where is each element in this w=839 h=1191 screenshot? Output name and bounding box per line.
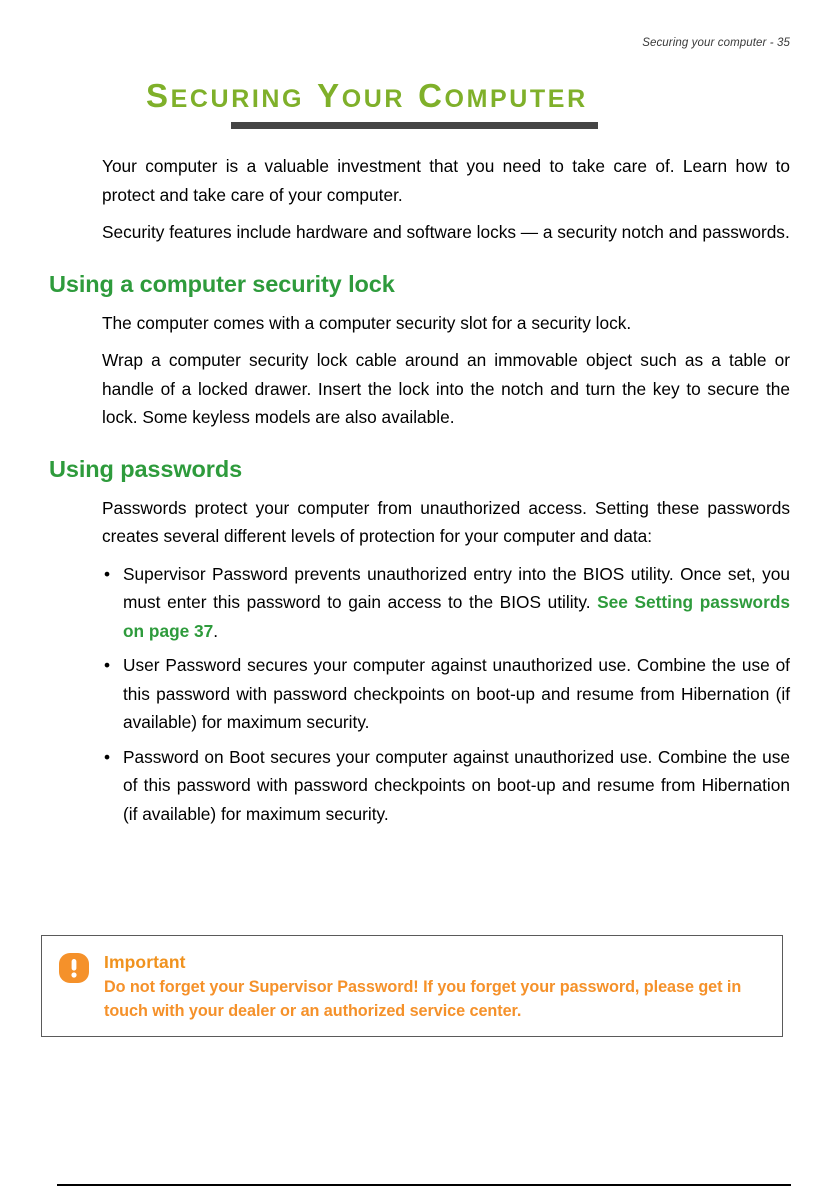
password-types-list: •Supervisor Password prevents unauthoriz… <box>0 560 839 829</box>
important-callout-box: Important Do not forget your Supervisor … <box>41 935 783 1037</box>
intro-paragraph-2: Security features include hardware and s… <box>0 218 839 247</box>
title-rest-3: OMPUTER <box>445 85 588 113</box>
intro-paragraph-1: Your computer is a valuable investment t… <box>0 152 839 209</box>
list-item: •User Password secures your computer aga… <box>0 651 839 737</box>
list-item-text-tail: . <box>213 621 218 641</box>
title-underline-rule <box>231 122 598 129</box>
page-title: SECURINGYOURCOMPUTER <box>146 79 588 112</box>
running-header: Securing your computer - 35 <box>642 37 790 49</box>
security-lock-paragraph-2: Wrap a computer security lock cable arou… <box>0 346 839 432</box>
bullet-marker-icon: • <box>104 743 110 772</box>
security-lock-paragraph-1: The computer comes with a computer secur… <box>0 309 839 338</box>
passwords-paragraph-1: Passwords protect your computer from una… <box>0 494 839 551</box>
title-rest-2: OUR <box>342 85 405 113</box>
content-column: Your computer is a valuable investment t… <box>0 152 839 834</box>
title-initial-1: S <box>146 77 171 114</box>
footer-rule <box>57 1184 791 1186</box>
list-item: •Supervisor Password prevents unauthoriz… <box>0 560 839 646</box>
list-item-text: User Password secures your computer agai… <box>123 655 790 732</box>
page: Securing your computer - 35 SECURINGYOUR… <box>0 0 839 1191</box>
bullet-marker-icon: • <box>104 560 110 589</box>
section-heading-passwords: Using passwords <box>0 454 839 484</box>
important-callout-body: Do not forget your Supervisor Password! … <box>104 976 766 1023</box>
bullet-marker-icon: • <box>104 651 110 680</box>
list-item-text: Password on Boot secures your computer a… <box>123 747 790 824</box>
title-rest-1: ECURING <box>171 85 304 113</box>
exclamation-icon <box>59 953 89 983</box>
section-heading-security-lock: Using a computer security lock <box>0 269 839 299</box>
important-callout-content: Important Do not forget your Supervisor … <box>58 952 766 1023</box>
title-initial-2: Y <box>317 77 342 114</box>
list-item: •Password on Boot secures your computer … <box>0 743 839 829</box>
important-callout-title: Important <box>104 952 766 973</box>
title-initial-3: C <box>418 77 444 114</box>
